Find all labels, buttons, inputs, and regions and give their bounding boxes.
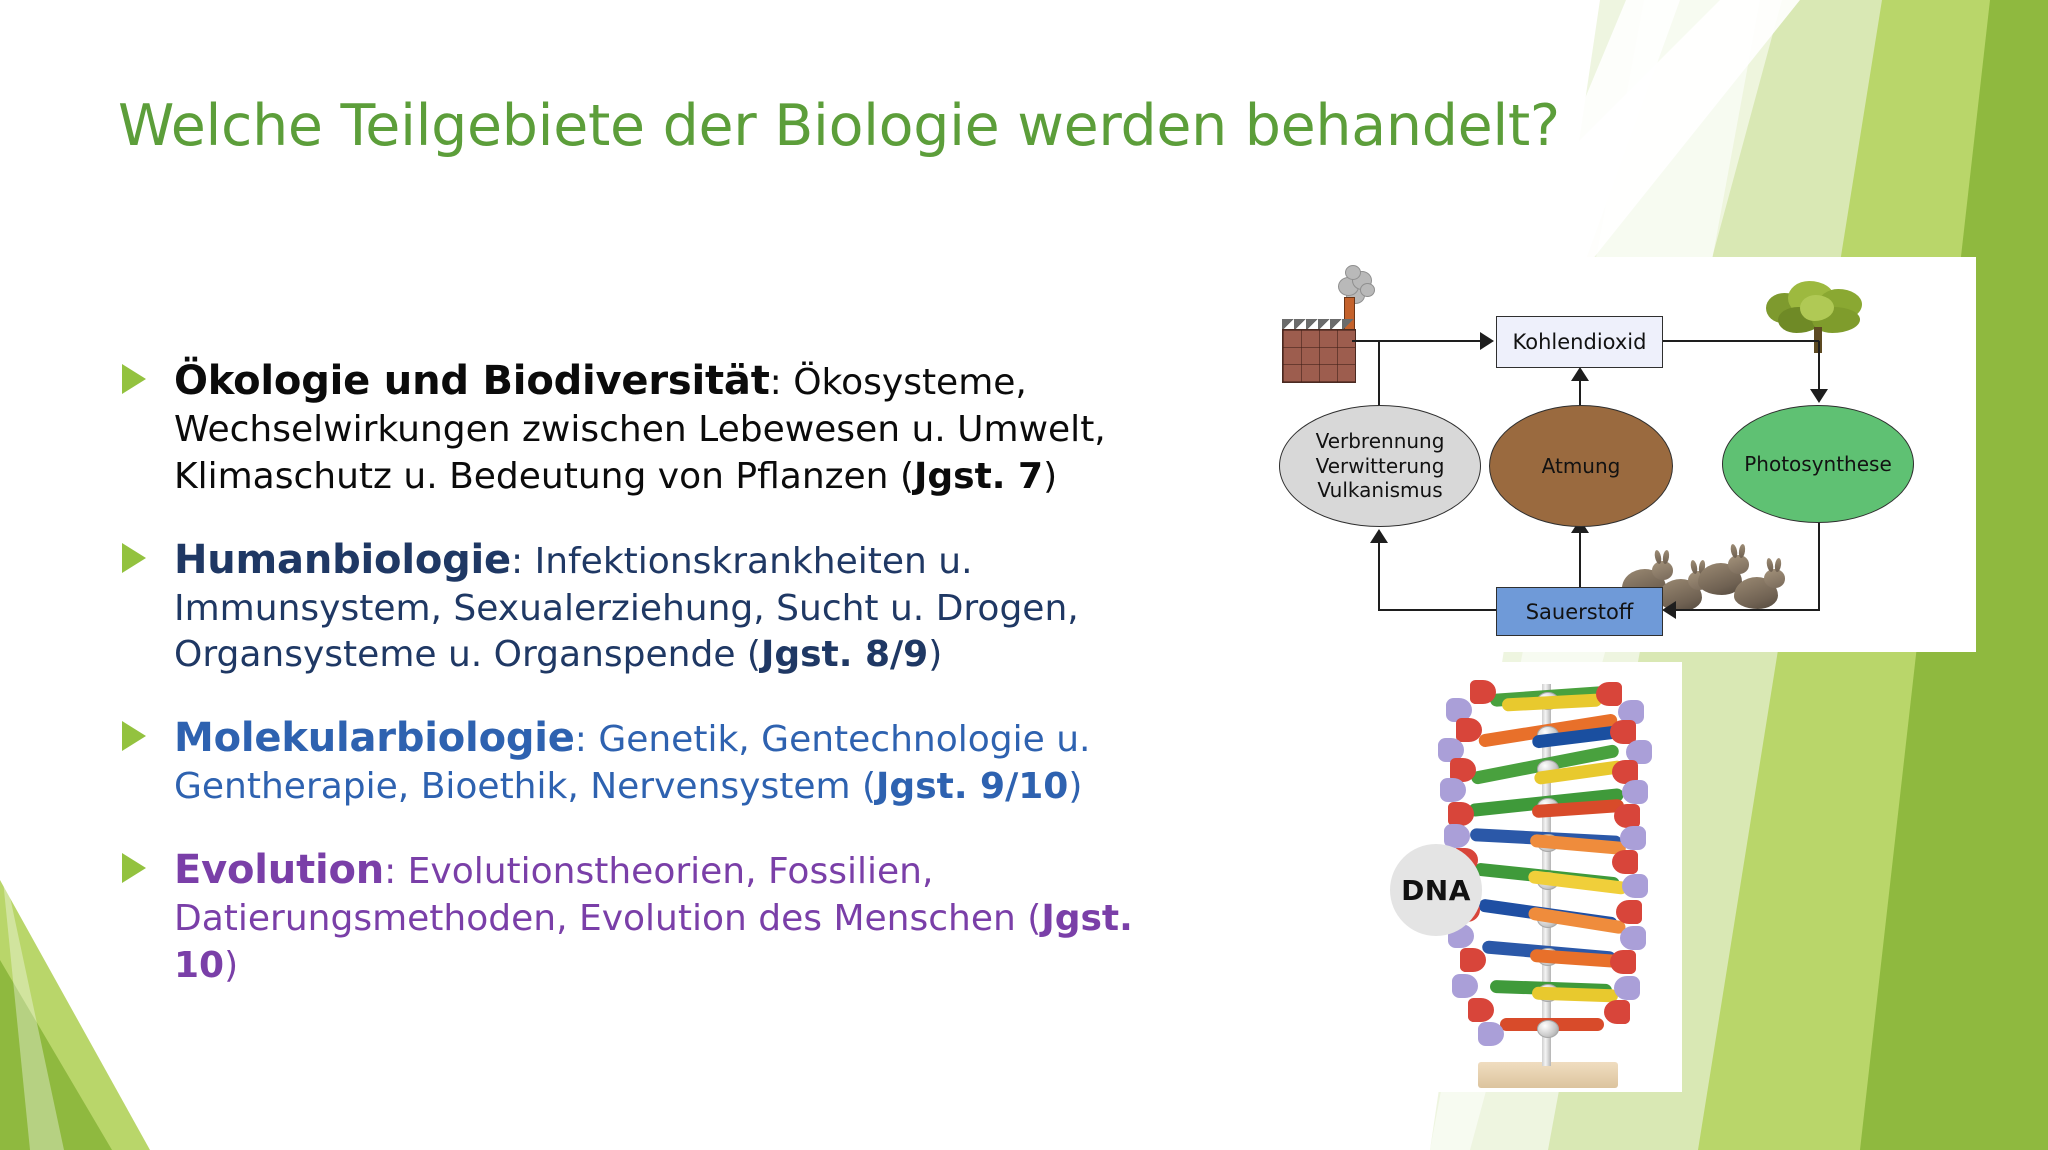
node-carbon-dioxide: Kohlendioxid	[1496, 316, 1663, 368]
bullet-heading: Ökologie und Biodiversität	[174, 358, 770, 404]
bullet-heading: Evolution	[174, 847, 384, 893]
list-item: Ökologie und Biodiversität: Ökosysteme, …	[112, 355, 1202, 501]
bullet-text: Molekularbiologie: Genetik, Gentechnolog…	[174, 712, 1202, 811]
connector-oxygen-to-combustion	[1378, 609, 1498, 611]
factory-smokestack-icon	[1282, 297, 1378, 392]
bullet-text: Humanbiologie: Infektionskrankheiten u. …	[174, 534, 1202, 680]
bullet-separator: :	[770, 362, 794, 403]
bullet-body-end: )	[928, 634, 942, 675]
bullet-body-end: )	[224, 945, 238, 986]
bullet-separator: :	[511, 541, 535, 582]
node-respiration: Atmung	[1489, 405, 1673, 527]
arrowhead-down	[1810, 389, 1828, 403]
bullet-list: Ökologie und Biodiversität: Ökosysteme, …	[112, 355, 1202, 990]
list-item: Evolution: Evolutionstheorien, Fossilien…	[112, 844, 1202, 990]
dna-label-badge: DNA	[1390, 844, 1482, 936]
node-label-line1: Verbrennung	[1316, 429, 1445, 453]
bullet-heading: Molekularbiologie	[174, 715, 575, 761]
connector-photosynthesis-to-oxygen	[1674, 609, 1820, 611]
bullet-body-end: )	[1043, 456, 1057, 497]
triangle-bullet-icon	[122, 721, 146, 751]
dna-label-text: DNA	[1401, 874, 1471, 907]
carbon-cycle-diagram: Kohlendioxid Sauerstoff Verbrennung Verw…	[1274, 257, 1976, 652]
node-oxygen: Sauerstoff	[1496, 587, 1663, 636]
dna-figure: DNA	[1382, 662, 1682, 1092]
arrowhead-right	[1480, 332, 1494, 350]
connector-oxygen-to-combustion-vert	[1378, 542, 1380, 610]
arrowhead-left	[1662, 601, 1676, 619]
node-combustion-weathering-volcanism: Verbrennung Verwitterung Vulkanismus	[1279, 405, 1481, 527]
connector-oxygen-to-respiration	[1579, 529, 1581, 587]
bullet-text: Evolution: Evolutionstheorien, Fossilien…	[174, 844, 1202, 990]
list-item: Humanbiologie: Infektionskrankheiten u. …	[112, 534, 1202, 680]
bullet-grade: Jgst. 9/10	[876, 766, 1068, 807]
presentation-slide: Welche Teilgebiete der Biologie werden b…	[0, 0, 2048, 1150]
node-photosynthesis: Photosynthese	[1722, 405, 1914, 523]
node-label-line2: Verwitterung	[1316, 454, 1445, 478]
triangle-bullet-icon	[122, 364, 146, 394]
bullet-separator: :	[384, 851, 408, 892]
connector-factory-to-combustion	[1378, 341, 1380, 407]
triangle-bullet-icon	[122, 853, 146, 883]
dna-double-helix-image: DNA	[1382, 662, 1682, 1092]
node-label: Photosynthese	[1744, 452, 1892, 476]
connector-factory-to-co2	[1352, 340, 1484, 342]
bullet-text: Ökologie und Biodiversität: Ökosysteme, …	[174, 355, 1202, 501]
triangle-bullet-icon	[122, 543, 146, 573]
node-label: Kohlendioxid	[1513, 330, 1647, 354]
bullet-separator: :	[575, 719, 599, 760]
smoke-icon	[1332, 265, 1380, 307]
bullet-grade: Jgst. 8/9	[761, 634, 928, 675]
bullet-body-end: )	[1068, 766, 1082, 807]
bullet-heading: Humanbiologie	[174, 537, 511, 583]
arrowhead-up	[1571, 367, 1589, 381]
node-label: Sauerstoff	[1526, 600, 1634, 624]
connector-photosynthesis-down	[1818, 519, 1820, 611]
list-item: Molekularbiologie: Genetik, Gentechnolog…	[112, 712, 1202, 811]
node-label: Atmung	[1542, 454, 1621, 478]
bullet-grade: Jgst. 7	[914, 456, 1043, 497]
node-label-line3: Vulkanismus	[1316, 478, 1445, 502]
slide-title: Welche Teilgebiete der Biologie werden b…	[118, 95, 1618, 158]
arrowhead-up	[1370, 529, 1388, 543]
connector-co2-to-tree	[1661, 340, 1819, 342]
